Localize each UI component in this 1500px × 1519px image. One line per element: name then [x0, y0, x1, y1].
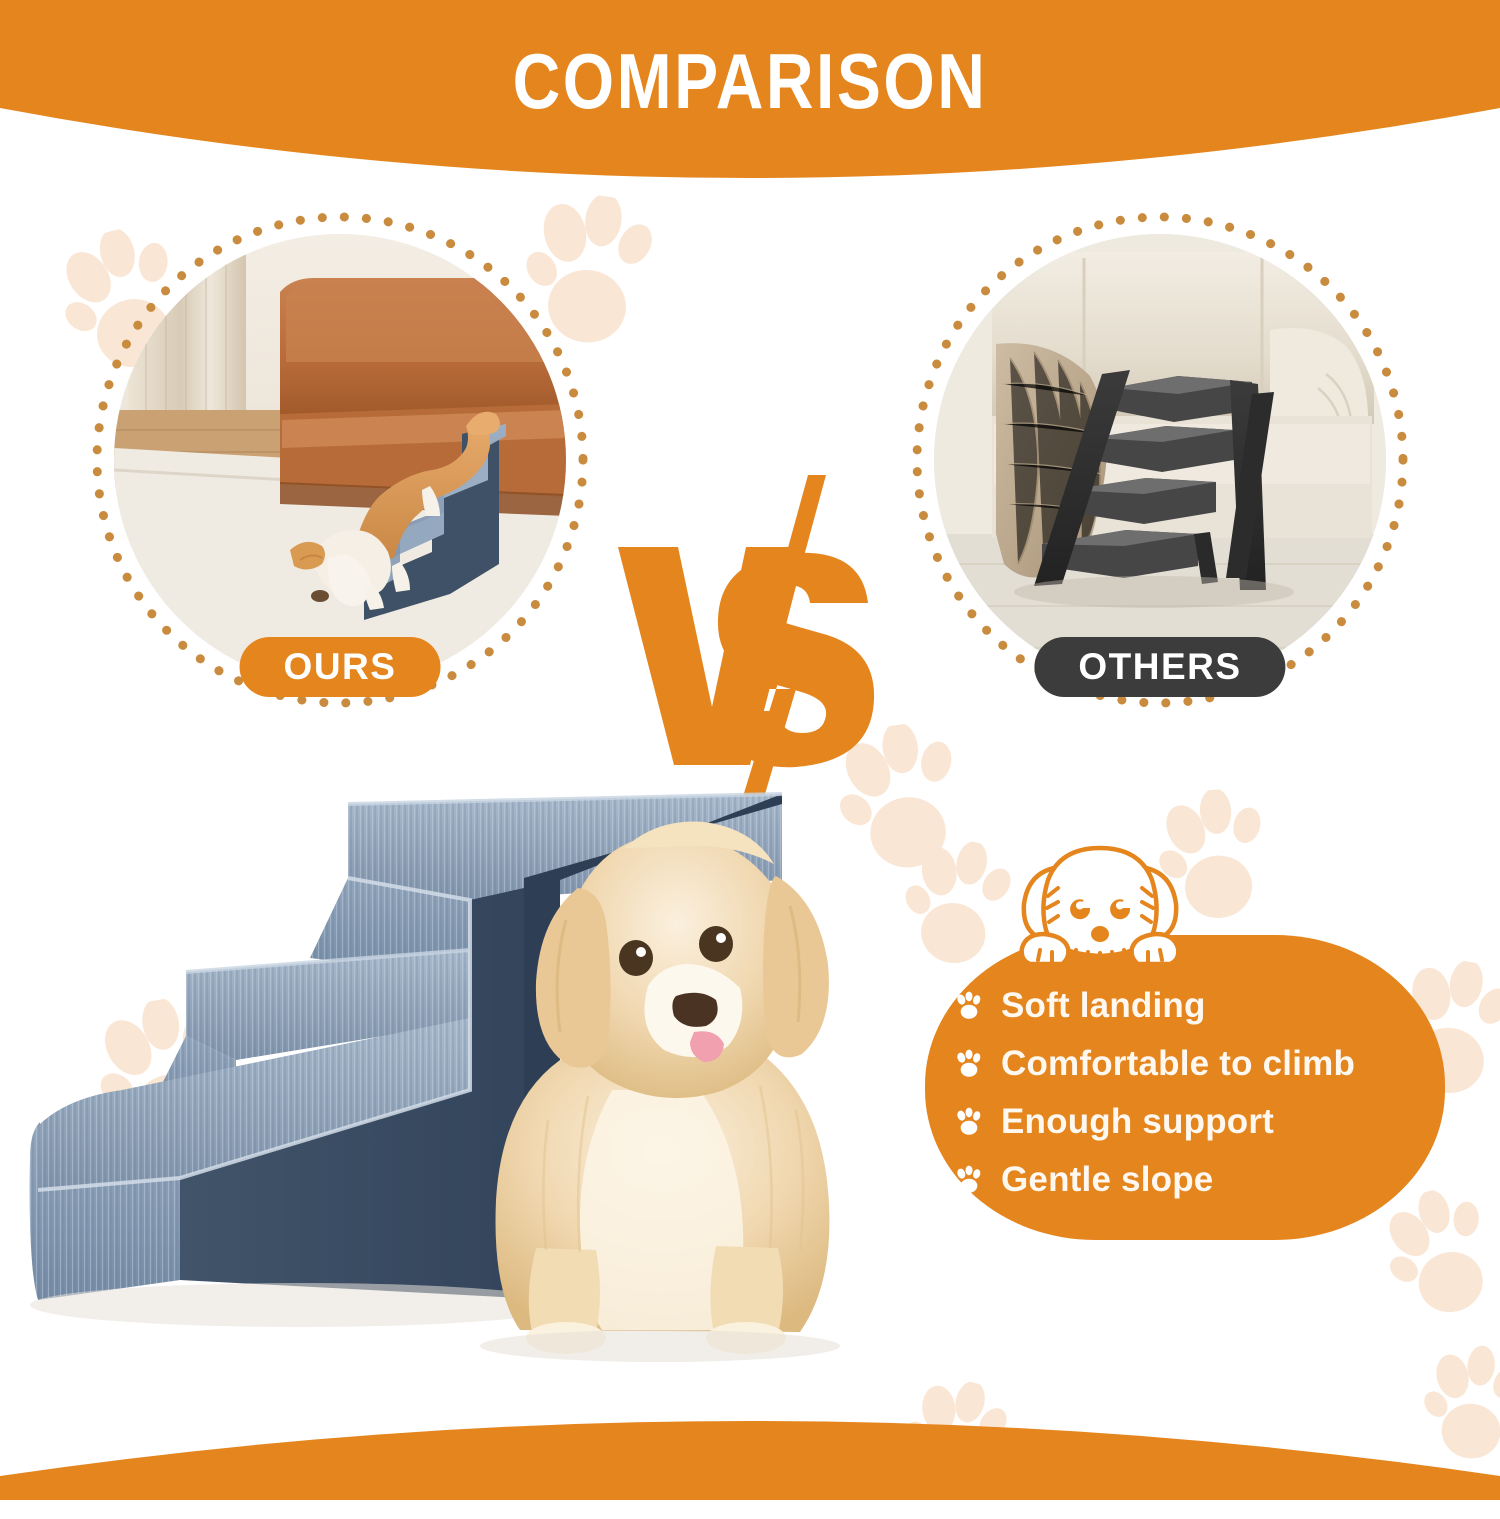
paw-bullet-icon	[953, 990, 985, 1022]
header-banner: COMPARISON	[0, 0, 1500, 190]
feature-list: Soft landing Comfortable to climb Enough…	[925, 977, 1445, 1209]
feature-label: Gentle slope	[1001, 1160, 1213, 1200]
footer-banner	[0, 1380, 1500, 1500]
infographic-canvas: COMPARISON	[0, 0, 1500, 1500]
feature-label: Comfortable to climb	[1001, 1044, 1355, 1084]
badge-ours: OURS	[240, 637, 441, 697]
feature-item: Enough support	[953, 1093, 1445, 1151]
page-title: COMPARISON	[0, 36, 1500, 126]
comparison-card-ours[interactable]: OURS	[85, 205, 595, 715]
feature-item: Comfortable to climb	[953, 1035, 1445, 1093]
product-photo-others	[934, 234, 1386, 686]
comparison-card-others[interactable]: OTHERS	[905, 205, 1415, 715]
feature-item: Gentle slope	[953, 1151, 1445, 1209]
feature-label: Enough support	[1001, 1102, 1274, 1142]
peeking-dog-icon	[1000, 838, 1200, 968]
paw-bullet-icon	[953, 1164, 985, 1196]
paw-bullet-icon	[953, 1106, 985, 1138]
feature-label: Soft landing	[1001, 986, 1206, 1026]
features-panel: Soft landing Comfortable to climb Enough…	[925, 935, 1445, 1240]
product-photo-ours	[114, 234, 566, 686]
feature-item: Soft landing	[953, 977, 1445, 1035]
paw-bullet-icon	[953, 1048, 985, 1080]
comparison-row: OURS	[0, 205, 1500, 725]
badge-others: OTHERS	[1034, 637, 1285, 697]
hero-product-image	[0, 760, 960, 1400]
